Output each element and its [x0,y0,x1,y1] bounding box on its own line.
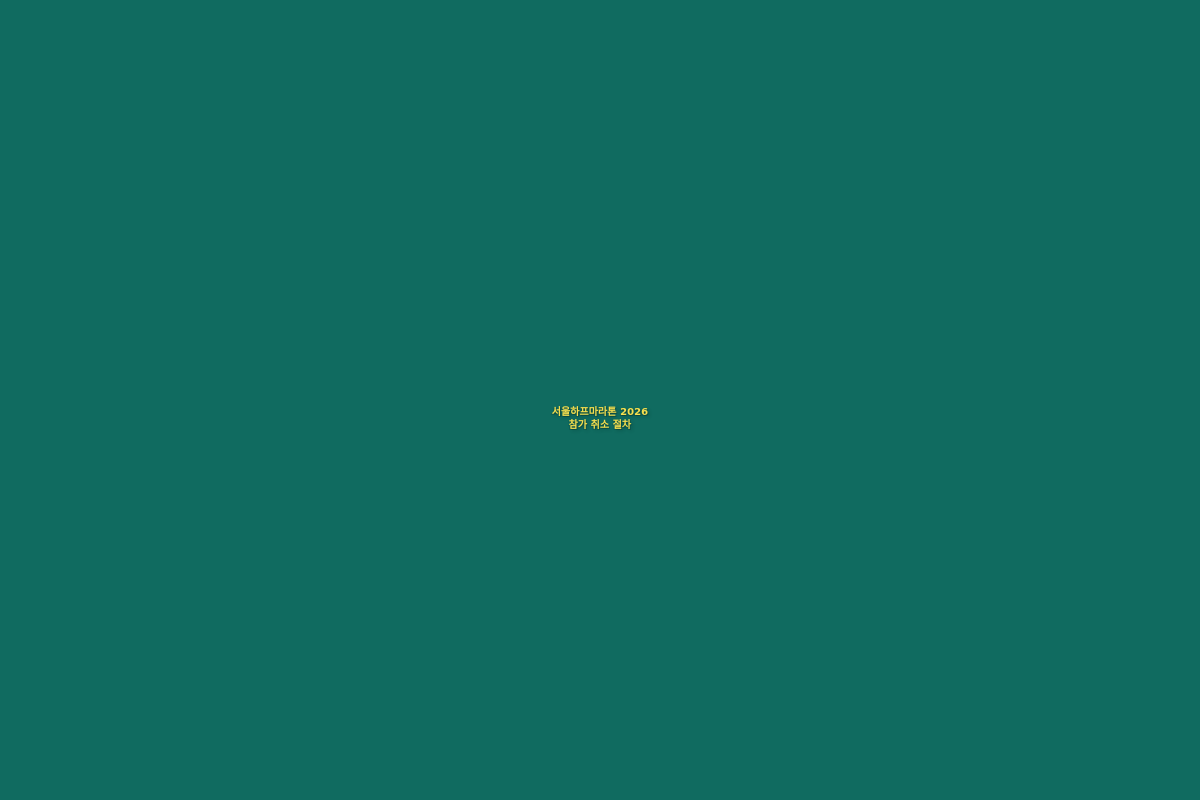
banner-title-line-2: 참가 취소 절차 [0,419,1200,432]
banner-title-line-1: 서울하프마라톤 2026 [0,406,1200,419]
banner-title-block: 서울하프마라톤 2026 참가 취소 절차 [0,406,1200,432]
banner-canvas: 서울하프마라톤 2026 참가 취소 절차 [0,0,1200,800]
